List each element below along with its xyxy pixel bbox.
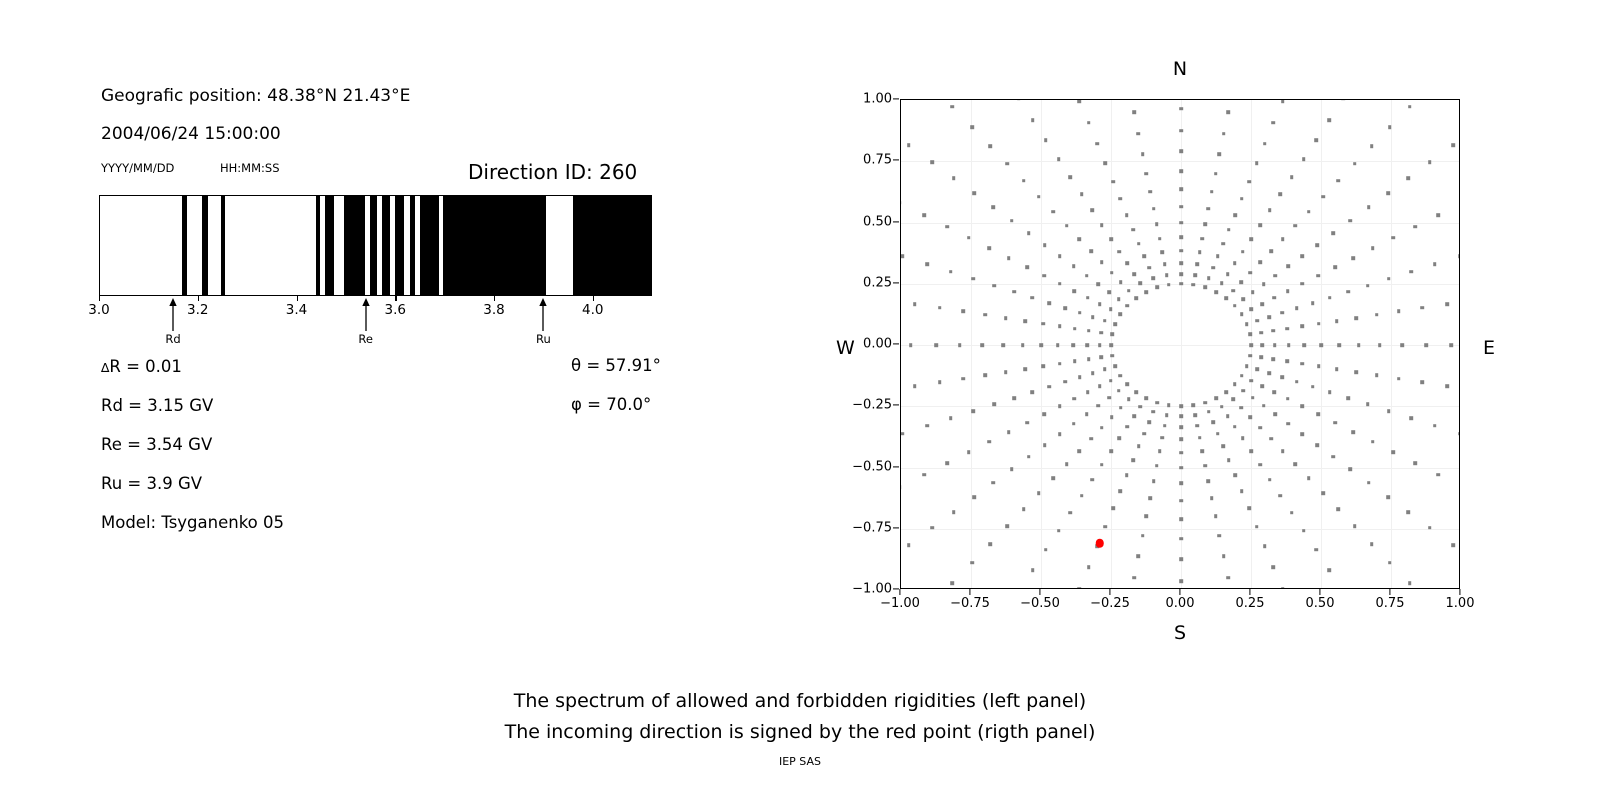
direction-point (967, 450, 971, 454)
direction-point (1249, 237, 1253, 241)
y-axis-tick-label: −1.00 (852, 582, 892, 597)
direction-point (1155, 401, 1159, 405)
x-axis-tick-mark (1319, 589, 1320, 595)
direction-point (1273, 390, 1277, 394)
direction-point (1240, 374, 1244, 378)
direction-point (938, 380, 942, 384)
direction-point (988, 542, 992, 546)
direction-point (922, 213, 926, 217)
direction-point (1346, 396, 1350, 400)
compass-south-label: S (1174, 622, 1186, 644)
x-axis-tick-mark (1039, 589, 1040, 595)
direction-point (1300, 432, 1304, 436)
direction-point (1141, 534, 1145, 538)
direction-point (1300, 282, 1304, 286)
x-axis-tick-mark (1459, 589, 1460, 595)
direction-point (1258, 463, 1262, 467)
direction-point (1295, 306, 1299, 310)
direction-point (1315, 443, 1319, 447)
direction-point (1051, 476, 1055, 480)
direction-point (1279, 193, 1283, 197)
direction-point (1285, 327, 1289, 331)
y-axis-tick-label: 1.00 (863, 92, 892, 107)
direction-point (1119, 374, 1123, 378)
direction-point (1420, 306, 1424, 310)
direction-point (1245, 364, 1249, 368)
direction-point (1436, 473, 1440, 477)
direction-point (1328, 391, 1332, 395)
direction-point (1354, 370, 1358, 374)
direction-point (1301, 362, 1305, 366)
direction-point (1349, 219, 1353, 223)
direction-point (1080, 494, 1084, 498)
direction-point (1179, 282, 1183, 286)
direction-point (1099, 331, 1103, 335)
direction-point (1111, 180, 1115, 184)
direction-point (1006, 162, 1010, 166)
rigidity-tick-label: 3.4 (286, 302, 307, 318)
direction-point (1179, 499, 1183, 503)
direction-point (1256, 319, 1260, 323)
direction-point (1272, 121, 1276, 125)
rigidity-tick-mark (99, 296, 100, 301)
direction-point (1118, 197, 1122, 201)
direction-point (1386, 191, 1390, 195)
direction-point (1148, 496, 1152, 500)
direction-point (1207, 276, 1211, 280)
direction-point (1375, 373, 1379, 377)
direction-point (1458, 254, 1460, 258)
direction-point (900, 254, 904, 258)
direction-point (1117, 298, 1121, 302)
direction-point (1051, 210, 1055, 214)
y-axis-tick-mark (893, 588, 899, 589)
direction-point (1110, 354, 1114, 358)
direction-point (1408, 582, 1412, 586)
direction-point (1452, 543, 1456, 547)
direction-point (1300, 254, 1304, 258)
direction-point (1231, 398, 1235, 402)
direction-point (1125, 262, 1129, 266)
rigidity-tick-mark (395, 296, 396, 301)
direction-point (1388, 125, 1392, 129)
direction-point (1353, 524, 1357, 528)
direction-point (1134, 296, 1138, 300)
direction-point (1409, 417, 1413, 421)
direction-point (1302, 529, 1306, 533)
direction-point (1058, 362, 1062, 366)
direction-map-panel: N S W E −1.00−0.75−0.50−0.250.000.250.50… (830, 50, 1530, 650)
direction-point (1022, 179, 1026, 183)
direction-point (1293, 462, 1297, 466)
direction-point (1315, 243, 1319, 247)
direction-point (1268, 478, 1272, 482)
direction-point (1218, 153, 1222, 157)
direction-point (1132, 414, 1136, 418)
direction-point (1268, 208, 1272, 212)
direction-point (1260, 343, 1264, 347)
direction-point (1201, 449, 1205, 453)
direction-point (930, 161, 934, 165)
forbidden-band (410, 196, 415, 295)
direction-point (1137, 132, 1141, 136)
direction-point (1272, 329, 1276, 333)
direction-point (1224, 296, 1228, 300)
direction-point (1428, 161, 1432, 165)
direction-point (1269, 249, 1273, 253)
direction-point (1090, 478, 1094, 482)
direction-point (1126, 383, 1130, 387)
compass-north-label: N (1173, 58, 1187, 80)
direction-point (1125, 213, 1129, 217)
direction-point (1100, 223, 1104, 227)
direction-point (1458, 432, 1460, 436)
rigidity-tick-mark (494, 296, 495, 301)
direction-point (1226, 414, 1230, 418)
direction-point (1098, 343, 1102, 347)
direction-point (1307, 210, 1311, 214)
direction-point (1179, 451, 1183, 455)
direction-point (1109, 237, 1113, 241)
direction-point (1078, 449, 1082, 453)
direction-point (1179, 205, 1183, 209)
direction-point (1127, 398, 1131, 402)
direction-point (1262, 283, 1266, 287)
direction-point (1433, 424, 1437, 428)
direction-point (1272, 357, 1276, 361)
direction-point (1058, 254, 1062, 258)
direction-point (1331, 455, 1335, 459)
direction-point (1111, 507, 1115, 511)
direction-point (1119, 313, 1123, 317)
direction-point (1272, 565, 1276, 569)
direction-point (1063, 306, 1067, 310)
direction-point (1125, 473, 1129, 477)
direction-point (1144, 396, 1148, 400)
direction-point (1337, 179, 1341, 183)
direction-point (1241, 437, 1245, 441)
direction-point (1044, 138, 1048, 142)
direction-point (1370, 144, 1374, 148)
direction-point (1195, 424, 1199, 428)
forbidden-band (344, 196, 365, 295)
x-axis-tick-label: 0.25 (1236, 596, 1265, 611)
direction-point (1255, 161, 1259, 165)
direction-point (1233, 425, 1237, 429)
direction-point (1179, 150, 1183, 154)
direction-point (1311, 385, 1315, 389)
direction-point (1251, 396, 1255, 400)
direction-point (1210, 496, 1214, 500)
direction-point (952, 176, 956, 180)
param-re: Re = 3.54 GV (101, 435, 212, 454)
direction-point (938, 306, 942, 310)
direction-point (1258, 261, 1262, 265)
direction-point (1387, 409, 1391, 413)
direction-point (1131, 458, 1135, 462)
y-axis-tick-mark (893, 98, 899, 99)
direction-point (1167, 404, 1171, 408)
rigidity-marker-label-rd: Rd (165, 332, 180, 346)
direction-point (1119, 406, 1123, 410)
direction-point (1145, 515, 1149, 519)
direction-point (1198, 436, 1202, 440)
direction-point (1179, 235, 1183, 239)
direction-point (1328, 568, 1332, 572)
direction-point (1042, 274, 1046, 278)
direction-point (1058, 404, 1062, 408)
time-format-hint: HH:MM:SS (220, 161, 280, 175)
direction-point (1023, 367, 1027, 371)
forbidden-band (202, 196, 207, 295)
direction-point (1179, 425, 1183, 429)
x-axis-tick-mark (1109, 589, 1110, 595)
forbidden-band (316, 196, 320, 295)
direction-point (1179, 129, 1183, 133)
direction-point (1142, 432, 1146, 436)
direction-point (1281, 587, 1285, 589)
direction-point (1152, 207, 1156, 211)
y-axis-tick-mark (893, 160, 899, 161)
direction-point (1141, 153, 1145, 157)
direction-point (1191, 283, 1195, 287)
direction-point (1247, 180, 1251, 184)
direction-point (1103, 319, 1107, 323)
direction-point (971, 409, 975, 413)
direction-point (1078, 237, 1082, 241)
forbidden-band (221, 196, 225, 295)
direction-point (913, 302, 917, 306)
direction-point (1048, 301, 1052, 305)
direction-point (992, 284, 996, 288)
direction-point (1078, 375, 1082, 379)
direction-point (1262, 404, 1266, 408)
direction-point (980, 343, 984, 347)
direction-point (1222, 554, 1226, 558)
direction-point (1155, 464, 1159, 468)
direction-point (1321, 195, 1325, 199)
direction-point (1109, 449, 1113, 453)
direction-point (970, 561, 974, 565)
direction-point (1191, 404, 1195, 408)
rigidity-tick-label: 3.6 (385, 302, 406, 318)
direction-point (1436, 213, 1440, 217)
direction-point (983, 373, 987, 377)
direction-point (1193, 413, 1197, 417)
direction-point (1337, 343, 1341, 347)
direction-point (1241, 250, 1245, 254)
direction-point (1333, 265, 1337, 269)
direction-point (961, 377, 965, 381)
direction-point (1126, 304, 1130, 308)
param-phi: φ = 70.0° (571, 395, 651, 414)
gridline-horizontal (901, 345, 1459, 346)
direction-point (1319, 343, 1323, 347)
y-axis-tick-mark (893, 343, 899, 344)
direction-point (1179, 482, 1183, 486)
direction-point (909, 343, 913, 347)
rigidity-spectrum-panel: Geografic position: 48.38°N 21.43°E 2004… (0, 0, 760, 680)
direction-point (1078, 311, 1082, 315)
direction-point (1091, 315, 1095, 319)
direction-point (1179, 169, 1183, 173)
direction-point (1071, 343, 1075, 347)
direction-point (1158, 237, 1162, 241)
direction-point (1179, 107, 1183, 111)
direction-point (1226, 110, 1230, 114)
direction-point (1408, 105, 1412, 109)
direction-point (1179, 249, 1183, 253)
direction-point (1089, 249, 1093, 253)
direction-point (1269, 437, 1273, 441)
y-axis-tick-label: 0.75 (863, 153, 892, 168)
direction-point (922, 473, 926, 477)
direction-point (1207, 480, 1211, 484)
direction-point (1391, 236, 1395, 240)
direction-point (1023, 319, 1027, 323)
y-axis-tick-mark (893, 405, 899, 406)
direction-point (1085, 343, 1089, 347)
direction-point (1424, 343, 1428, 347)
rigidity-tick-mark (198, 296, 199, 301)
direction-point (1302, 158, 1306, 162)
direction-point (1025, 421, 1029, 425)
direction-point (1103, 368, 1107, 372)
direction-point (1179, 438, 1183, 442)
geographic-position-label: Geografic position: 48.38°N 21.43°E (101, 86, 410, 106)
direction-point (1086, 390, 1090, 394)
direction-point (1281, 449, 1285, 453)
direction-point (1078, 587, 1082, 589)
direction-point (1132, 576, 1136, 580)
direction-point (1031, 568, 1035, 572)
direction-point (1073, 327, 1077, 331)
direction-point (1248, 333, 1252, 337)
direction-point (1087, 121, 1091, 125)
direction-point (1233, 304, 1237, 308)
x-axis-tick-label: −0.50 (1020, 596, 1060, 611)
direction-point (945, 225, 949, 229)
y-axis-tick-mark (893, 527, 899, 528)
direction-point (1290, 511, 1294, 515)
direction-point (1113, 364, 1117, 368)
direction-point (1328, 118, 1332, 122)
direction-point (983, 313, 987, 317)
direction-point (1198, 250, 1202, 254)
direction-point (1342, 99, 1346, 101)
direction-point (1256, 368, 1260, 372)
direction-point (1137, 554, 1141, 558)
direction-point (1078, 99, 1082, 103)
x-axis-tick-mark (899, 589, 900, 595)
direction-point (1179, 466, 1183, 470)
direction-point (1307, 476, 1311, 480)
direction-point (1118, 250, 1122, 254)
compass-east-label: E (1483, 337, 1495, 359)
direction-point (907, 543, 911, 547)
direction-point (1281, 375, 1285, 379)
direction-point (1113, 322, 1117, 326)
direction-point (1250, 379, 1254, 383)
direction-point (1214, 290, 1218, 294)
param-delta-r: ∆R = 0.01 (101, 357, 182, 376)
param-model: Model: Tsyganenko 05 (101, 513, 284, 532)
direction-point (900, 485, 902, 489)
direction-point (1286, 397, 1290, 401)
direction-point (1027, 455, 1031, 459)
direction-point (1263, 545, 1267, 549)
direction-point (1210, 190, 1214, 194)
direction-point (1007, 430, 1011, 434)
direction-point (1214, 515, 1218, 519)
direction-point (1407, 176, 1411, 180)
direction-point (1100, 426, 1104, 430)
direction-point (1163, 262, 1167, 266)
direction-point (1331, 231, 1335, 235)
direction-point (1371, 440, 1375, 444)
direction-point (1010, 468, 1014, 472)
direction-point (1044, 548, 1048, 552)
direction-point (1058, 324, 1062, 328)
direction-point (1072, 264, 1076, 268)
direction-point (1100, 261, 1104, 265)
direction-point (1201, 237, 1205, 241)
direction-point (1017, 99, 1021, 101)
rigidity-marker-arrow-rd (168, 298, 179, 332)
direction-point (1233, 262, 1237, 266)
rigidity-marker-arrow-re (360, 298, 371, 332)
direction-point (1058, 432, 1062, 436)
direction-point (1147, 420, 1151, 424)
direction-point (1097, 404, 1101, 408)
direction-point (1211, 266, 1215, 270)
direction-point (1144, 290, 1148, 294)
direction-point (971, 277, 975, 281)
direction-point (1179, 414, 1183, 418)
direction-point (1221, 242, 1225, 246)
direction-point (1258, 223, 1262, 227)
direction-point (1337, 507, 1341, 511)
y-axis-tick-mark (893, 466, 899, 467)
direction-point (1087, 329, 1091, 333)
direction-point (1371, 246, 1375, 250)
direction-point (1413, 461, 1417, 465)
direction-point (1031, 296, 1035, 300)
direction-point (1370, 542, 1374, 546)
direction-point (1387, 277, 1391, 281)
direction-point (1273, 343, 1277, 347)
direction-point (1099, 356, 1103, 360)
x-axis-tick-label: −0.75 (950, 596, 990, 611)
direction-point (1132, 110, 1136, 114)
direction-point (1004, 370, 1008, 374)
direction-point (1301, 324, 1305, 328)
direction-point (1300, 404, 1304, 408)
direction-point (1226, 272, 1230, 276)
x-axis-tick-label: −1.00 (880, 596, 920, 611)
direction-point (1388, 561, 1392, 565)
x-axis-tick-mark (1389, 589, 1390, 595)
direction-point (958, 343, 962, 347)
direction-point (1378, 343, 1382, 347)
footer-credit: IEP SAS (0, 755, 1600, 768)
direction-point (1118, 489, 1122, 493)
direction-point (1004, 316, 1008, 320)
direction-point (1391, 450, 1395, 454)
x-axis-tick-mark (969, 589, 970, 595)
direction-point (1165, 273, 1169, 277)
direction-point (1445, 384, 1449, 388)
